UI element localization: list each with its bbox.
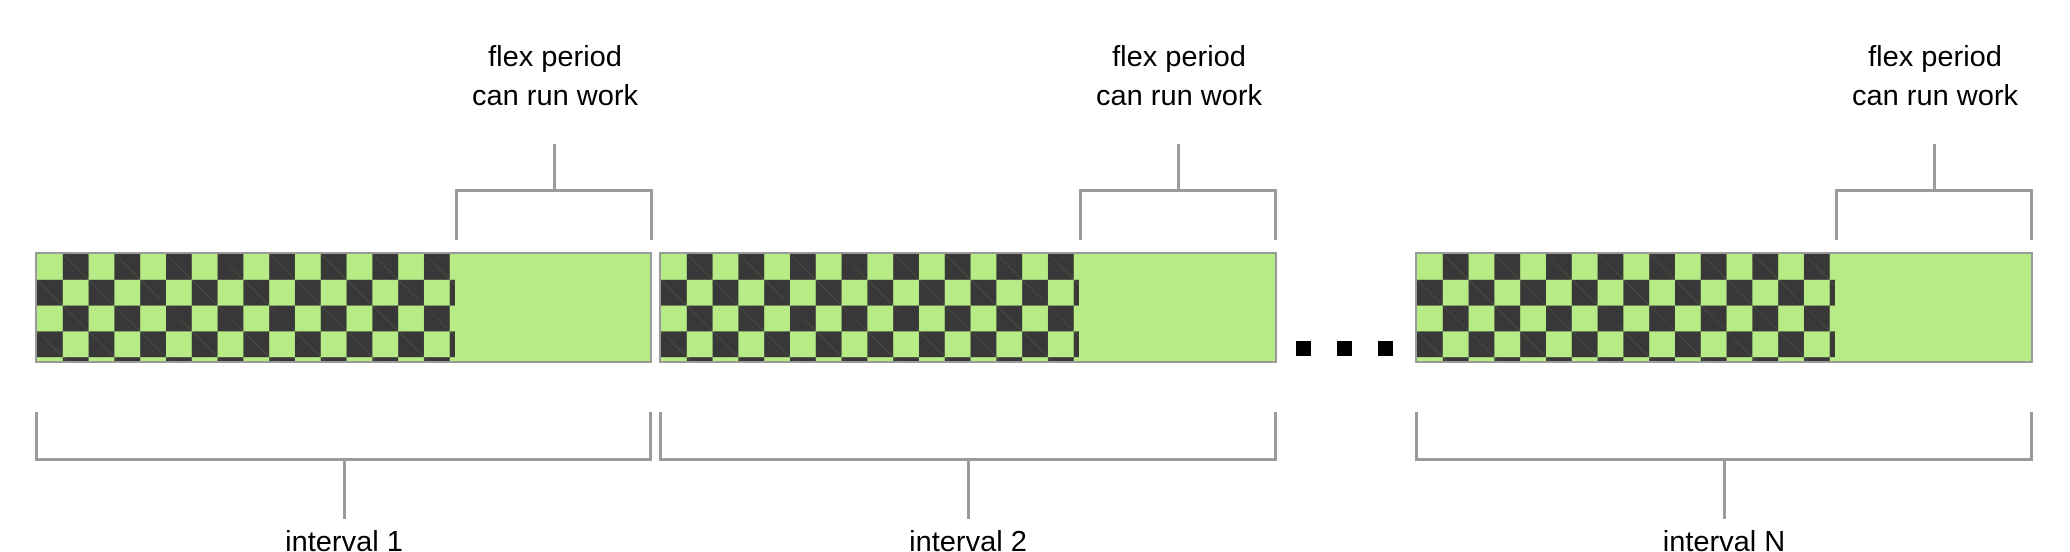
work-blocks-region-n xyxy=(1417,254,1835,361)
flex-period-label-2-line1: flex period xyxy=(979,38,1379,77)
interval-bar-1 xyxy=(35,252,652,363)
interval-bar-n xyxy=(1415,252,2033,363)
ellipsis-dot-2 xyxy=(1337,341,1352,356)
flex-period-label-1: flex period can run work xyxy=(355,38,755,115)
flex-period-label-2: flex period can run work xyxy=(979,38,1379,115)
flex-period-label-n-line1: flex period xyxy=(1735,38,2070,77)
flex-period-label-2-line2: can run work xyxy=(979,77,1379,116)
interval-stem-n xyxy=(1723,460,1726,519)
interval-label-2: interval 2 xyxy=(768,525,1168,552)
flex-period-bracket-n xyxy=(1835,189,2033,240)
diagram-canvas: flex period can run work interval 1 flex… xyxy=(0,0,2070,552)
flex-period-stem-2 xyxy=(1177,144,1180,190)
ellipsis-dot-3 xyxy=(1378,341,1393,356)
work-blocks-region-1 xyxy=(37,254,455,361)
work-blocks-region-2 xyxy=(661,254,1079,361)
interval-stem-2 xyxy=(967,460,970,519)
interval-bracket-2 xyxy=(659,412,1277,461)
interval-bracket-n xyxy=(1415,412,2033,461)
interval-label-n: interval N xyxy=(1524,525,1924,552)
flex-period-label-n: flex period can run work xyxy=(1735,38,2070,115)
flex-period-stem-1 xyxy=(553,144,556,190)
flex-period-bracket-2 xyxy=(1079,189,1277,240)
interval-stem-1 xyxy=(343,460,346,519)
interval-bar-2 xyxy=(659,252,1277,363)
flex-period-label-1-line2: can run work xyxy=(355,77,755,116)
ellipsis-dot-1 xyxy=(1296,341,1311,356)
interval-bracket-1 xyxy=(35,412,652,461)
flex-period-label-1-line1: flex period xyxy=(355,38,755,77)
flex-period-bracket-1 xyxy=(455,189,653,240)
interval-label-1: interval 1 xyxy=(144,525,544,552)
flex-period-stem-n xyxy=(1933,144,1936,190)
flex-period-label-n-line2: can run work xyxy=(1735,77,2070,116)
